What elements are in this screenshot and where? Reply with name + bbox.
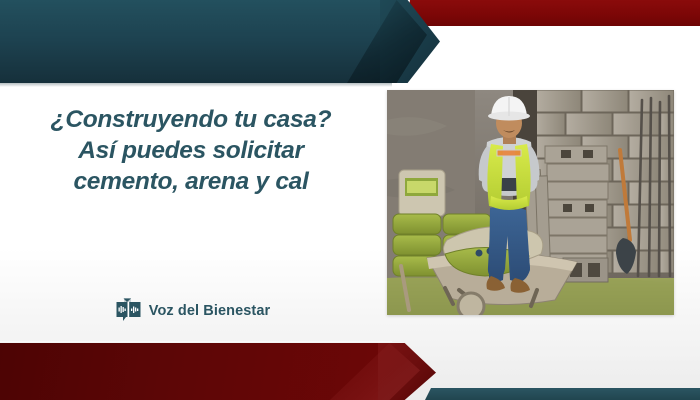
top-teal-banner <box>0 0 392 83</box>
footer-red-banner-arrow <box>378 343 436 400</box>
brand-name: Voz del Bienestar <box>149 303 271 319</box>
hero-photo <box>387 90 674 315</box>
open-book-speech-bubble-icon <box>115 298 142 324</box>
headline: ¿Construyendo tu casa? Así puedes solici… <box>16 104 366 197</box>
footer-teal-accent-strip <box>425 388 700 400</box>
top-banner-dropshadow <box>0 83 392 87</box>
promo-card: ¿Construyendo tu casa? Así puedes solici… <box>0 0 700 400</box>
footer-red-banner <box>0 343 392 400</box>
brand-logo: Voz del Bienestar <box>20 298 365 324</box>
top-red-accent-strip <box>406 0 700 26</box>
